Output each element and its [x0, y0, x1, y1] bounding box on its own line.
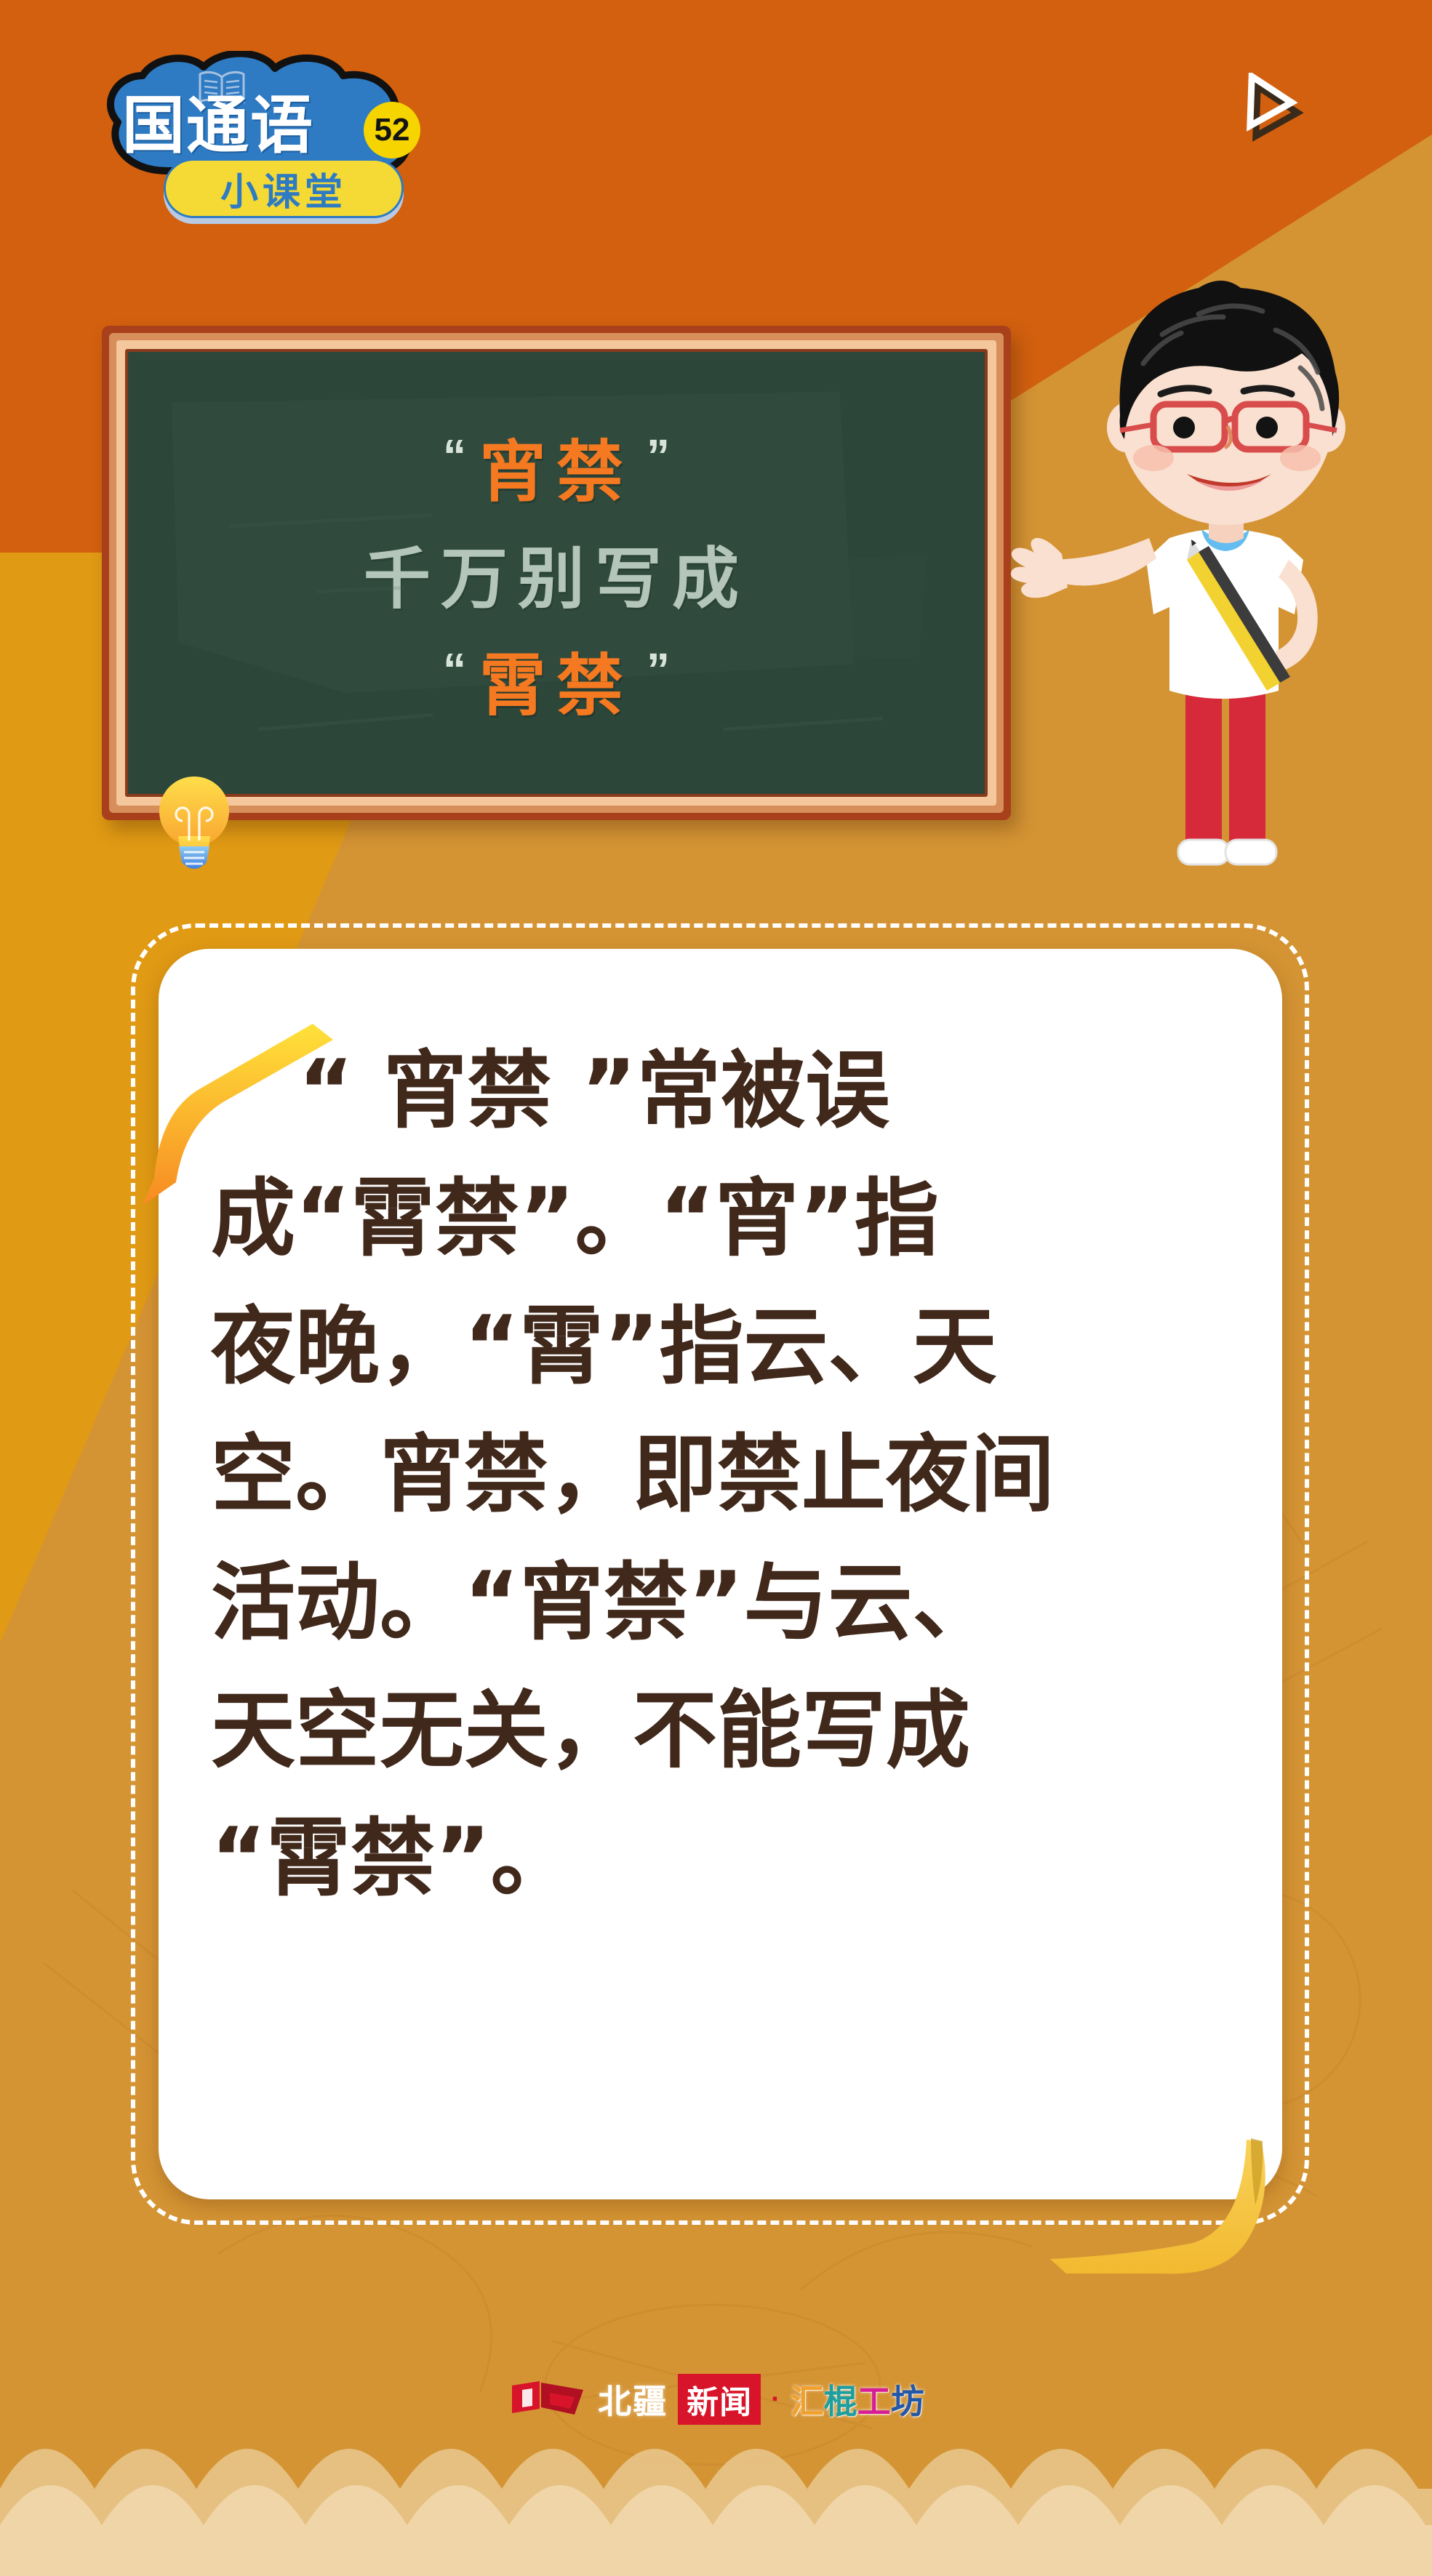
logo-banner-label: 小课堂: [220, 161, 347, 216]
ribbon-bottom-right-icon: [1040, 2127, 1280, 2279]
workshop-char-2: 棍: [824, 2382, 857, 2421]
blackboard: “ 宵禁 ” 千万别写成 “ 霄禁 ”: [102, 326, 1011, 820]
logo-char-3: 语: [250, 95, 311, 157]
lightbulb-icon: [154, 769, 234, 886]
play-triangle-outline-icon: [1229, 73, 1309, 153]
card-line-4: 空。宵禁，即禁止夜间: [211, 1411, 1236, 1539]
workshop-char-3: 工: [857, 2382, 891, 2421]
card-line-2: 成“霄禁”。“宵”指: [211, 1155, 1236, 1283]
card-text-body: “ 宵禁 ”常被误 成“霄禁”。“宵”指 夜晚，“霄”指云、天 空。宵禁，即禁止…: [182, 1014, 1265, 2148]
footer-brand-primary: 北疆: [598, 2375, 668, 2423]
close-quote-1: ”: [647, 433, 670, 479]
workshop-char-1: 汇: [791, 2382, 824, 2421]
card-line-6: 天空无关，不能写成: [211, 1667, 1236, 1795]
footer-separator: ·: [771, 2384, 780, 2415]
logo-char-2: 通: [186, 95, 247, 157]
blackboard-wrong-word: 霄禁: [479, 632, 633, 729]
card-line-7: “霄禁”。: [211, 1795, 1236, 1923]
brand-logo[interactable]: 国 通 语 52 小课堂: [87, 51, 465, 240]
logo-char-1: 国: [122, 95, 183, 157]
workshop-char-4: 坊: [891, 2382, 924, 2421]
card-line-1: “ 宵禁 ”常被误: [211, 1027, 1236, 1155]
card-line-3: 夜晚，“霄”指云、天: [211, 1283, 1236, 1411]
blackboard-line-1: “ 宵禁 ”: [430, 418, 683, 515]
episode-badge: 52: [364, 102, 420, 159]
blackboard-line-3: “ 霄禁 ”: [430, 632, 683, 729]
blackboard-surface: “ 宵禁 ” 千万别写成 “ 霄禁 ”: [125, 349, 988, 797]
card-line-5: 活动。“宵禁”与云、: [211, 1539, 1236, 1667]
close-quote-2: ”: [647, 646, 670, 693]
blackboard-frame-mid: “ 宵禁 ” 千万别写成 “ 霄禁 ”: [109, 333, 1004, 813]
poster-root: 国 通 语 52 小课堂: [0, 0, 1432, 2576]
blackboard-frame-inner: “ 宵禁 ” 千万别写成 “ 霄禁 ”: [116, 340, 996, 806]
footer-brand-bar: 北疆 新闻 · 汇棍工坊: [0, 2359, 1432, 2439]
open-quote-1: “: [443, 433, 466, 479]
footer-workshop: 汇棍工坊: [791, 2375, 924, 2423]
footer-brand-tag: 新闻: [678, 2374, 761, 2425]
logo-banner[interactable]: 小课堂: [164, 159, 404, 218]
boy-with-glasses-illustration: [1004, 218, 1353, 909]
open-quote-2: “: [443, 646, 466, 693]
red-flag-icon: [508, 2377, 588, 2422]
blackboard-correct-word: 宵禁: [479, 418, 633, 515]
